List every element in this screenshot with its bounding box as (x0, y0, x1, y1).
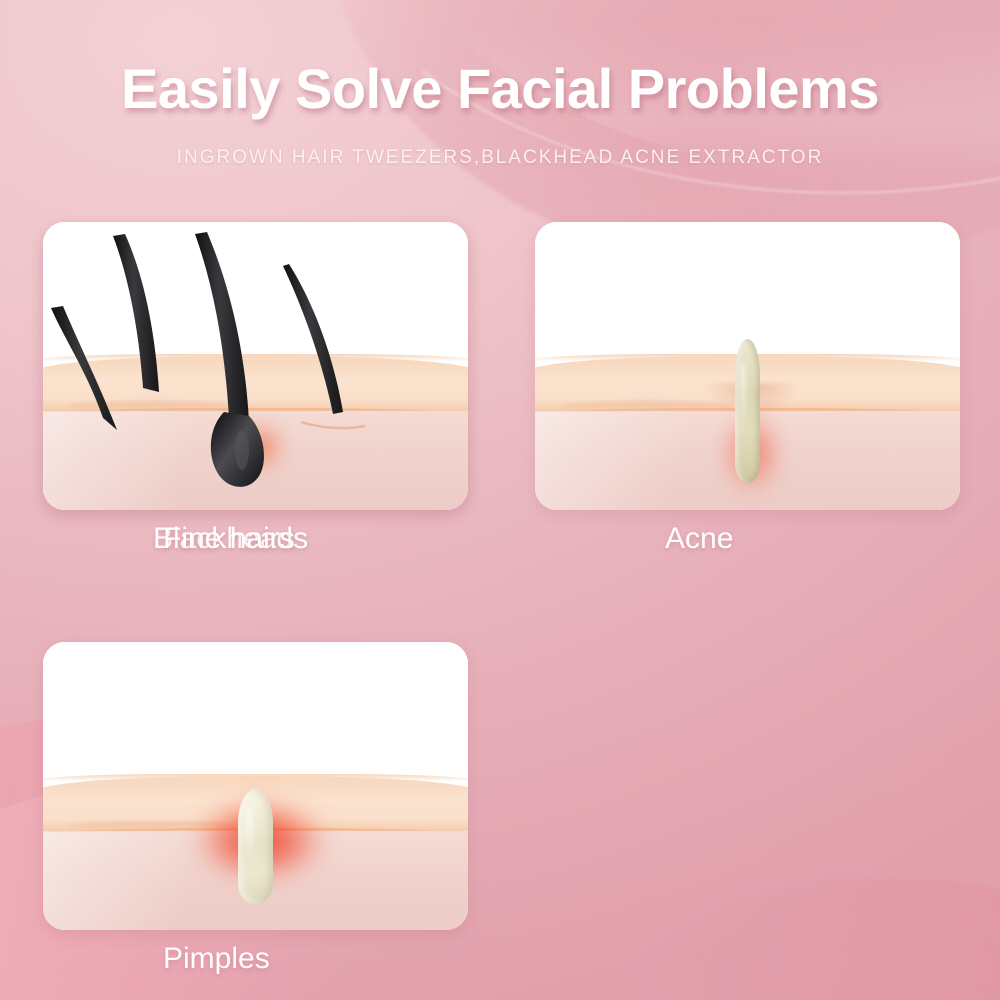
card-label-acne: Acne (535, 522, 960, 556)
tweezer-tip-icon (780, 222, 960, 336)
card-label-pimples: Pimples (43, 942, 468, 976)
card-image-pimples (43, 642, 468, 930)
tweezer-tip-icon (293, 222, 468, 368)
pimple-pustule-icon (238, 789, 274, 904)
card-image-acne (535, 222, 960, 510)
card-fine-hairs: Fine hairs (43, 222, 468, 556)
whitehead-plug-icon (735, 339, 761, 483)
plug-highlight (245, 807, 254, 867)
problem-cards-grid: Blackheads (43, 222, 960, 976)
tweezer-tip-icon (283, 642, 468, 762)
page-title: Easily Solve Facial Problems (0, 0, 1000, 121)
plug-highlight (740, 362, 747, 437)
skin-cross-section-acne (535, 222, 960, 510)
header: Easily Solve Facial Problems INGROWN HAI… (0, 0, 1000, 169)
card-acne: Acne (535, 222, 960, 556)
dermis-sheen (43, 832, 247, 930)
card-image-fine-hairs (43, 222, 468, 510)
card-pimples: Pimples (43, 642, 468, 976)
card-label-fine-hairs: Fine hairs (43, 522, 468, 556)
page-subtitle: INGROWN HAIR TWEEZERS,BLACKHEAD ACNE EXT… (0, 121, 1000, 169)
skin-cross-section-pimple (43, 642, 468, 930)
infographic-canvas: Easily Solve Facial Problems INGROWN HAI… (0, 0, 1000, 1000)
skin-cross-section-hair (43, 222, 468, 510)
